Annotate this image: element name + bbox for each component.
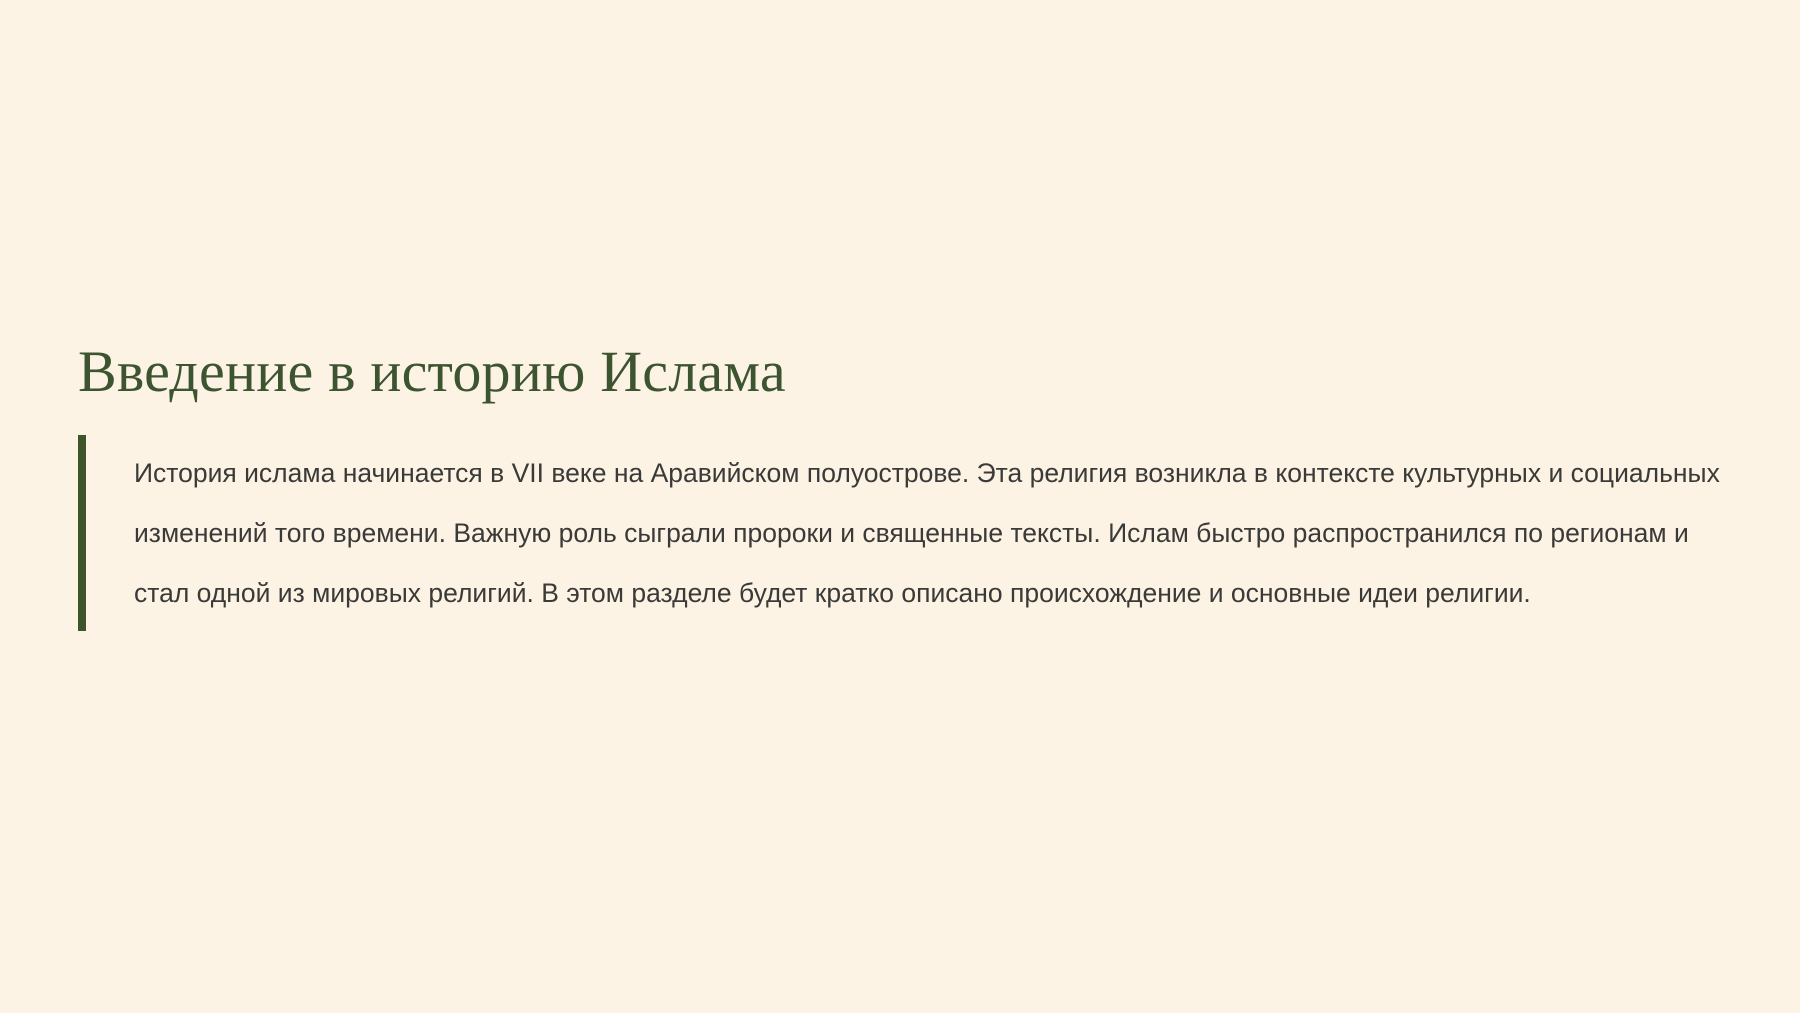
page-title: Введение в историю Ислама: [78, 340, 1738, 405]
intro-paragraph: История ислама начинается в VII веке на …: [134, 443, 1738, 623]
intro-callout: История ислама начинается в VII веке на …: [78, 435, 1738, 631]
section-container: Введение в историю Ислама История ислама…: [78, 340, 1738, 631]
document-page: Введение в историю Ислама История ислама…: [0, 0, 1800, 1013]
